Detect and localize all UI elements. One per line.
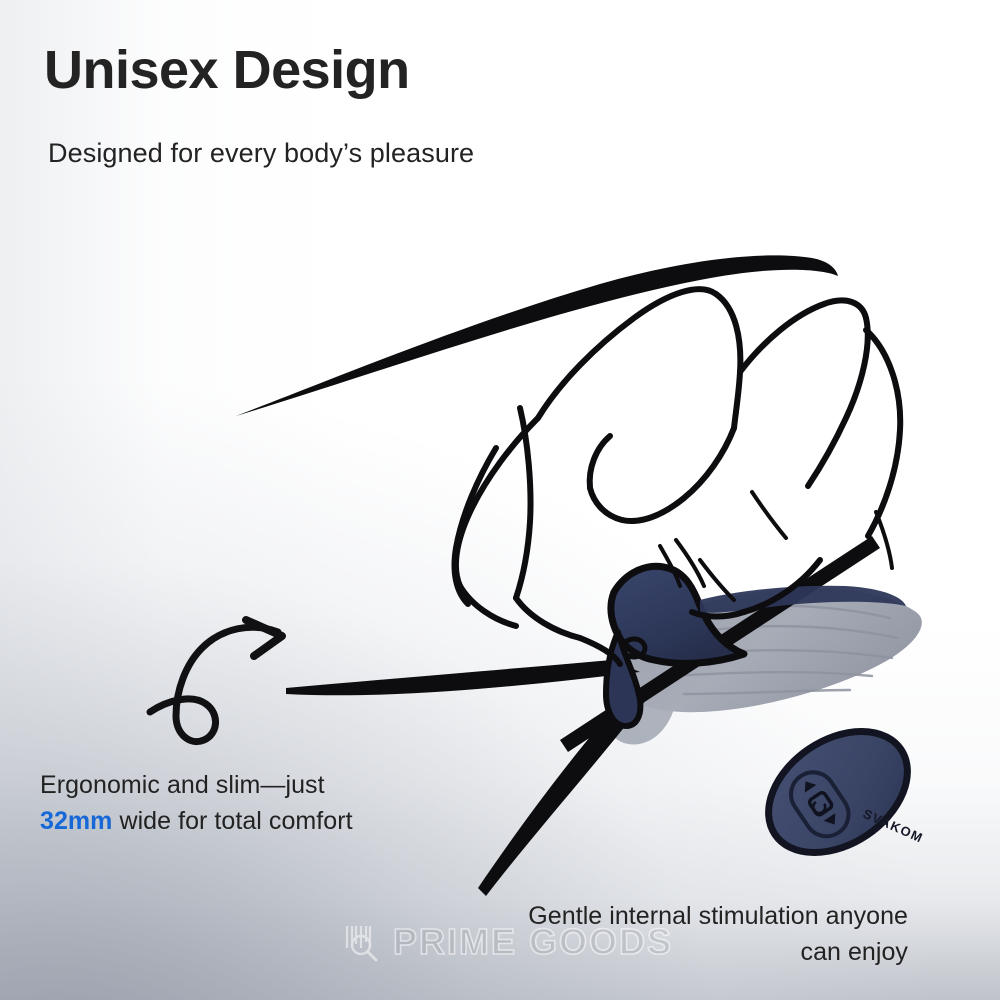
contour-line-upper xyxy=(236,255,838,416)
caption-left-line2: 32mm wide for total comfort xyxy=(40,804,353,840)
caption-right-line1: Gentle internal stimulation anyone xyxy=(388,898,908,934)
measurement-highlight: 32mm xyxy=(40,807,112,835)
hand-drawn-curled-arrow-icon xyxy=(150,620,282,742)
page-title: Unisex Design xyxy=(44,42,410,99)
caption-right: Gentle internal stimulation anyone can e… xyxy=(388,898,908,971)
page-subtitle: Designed for every body’s pleasure xyxy=(48,138,474,169)
caption-left-line1: Ergonomic and slim—just xyxy=(40,768,353,804)
product-marketing-image: SVAKOM Unisex Design Designed for every … xyxy=(0,0,1000,1000)
caption-left-line2-rest: wide for total comfort xyxy=(112,807,352,835)
oval-remote-control-icon: SVAKOM xyxy=(746,706,952,909)
caption-left: Ergonomic and slim—just 32mm wide for to… xyxy=(40,768,353,839)
caption-right-line2: can enjoy xyxy=(388,934,908,970)
